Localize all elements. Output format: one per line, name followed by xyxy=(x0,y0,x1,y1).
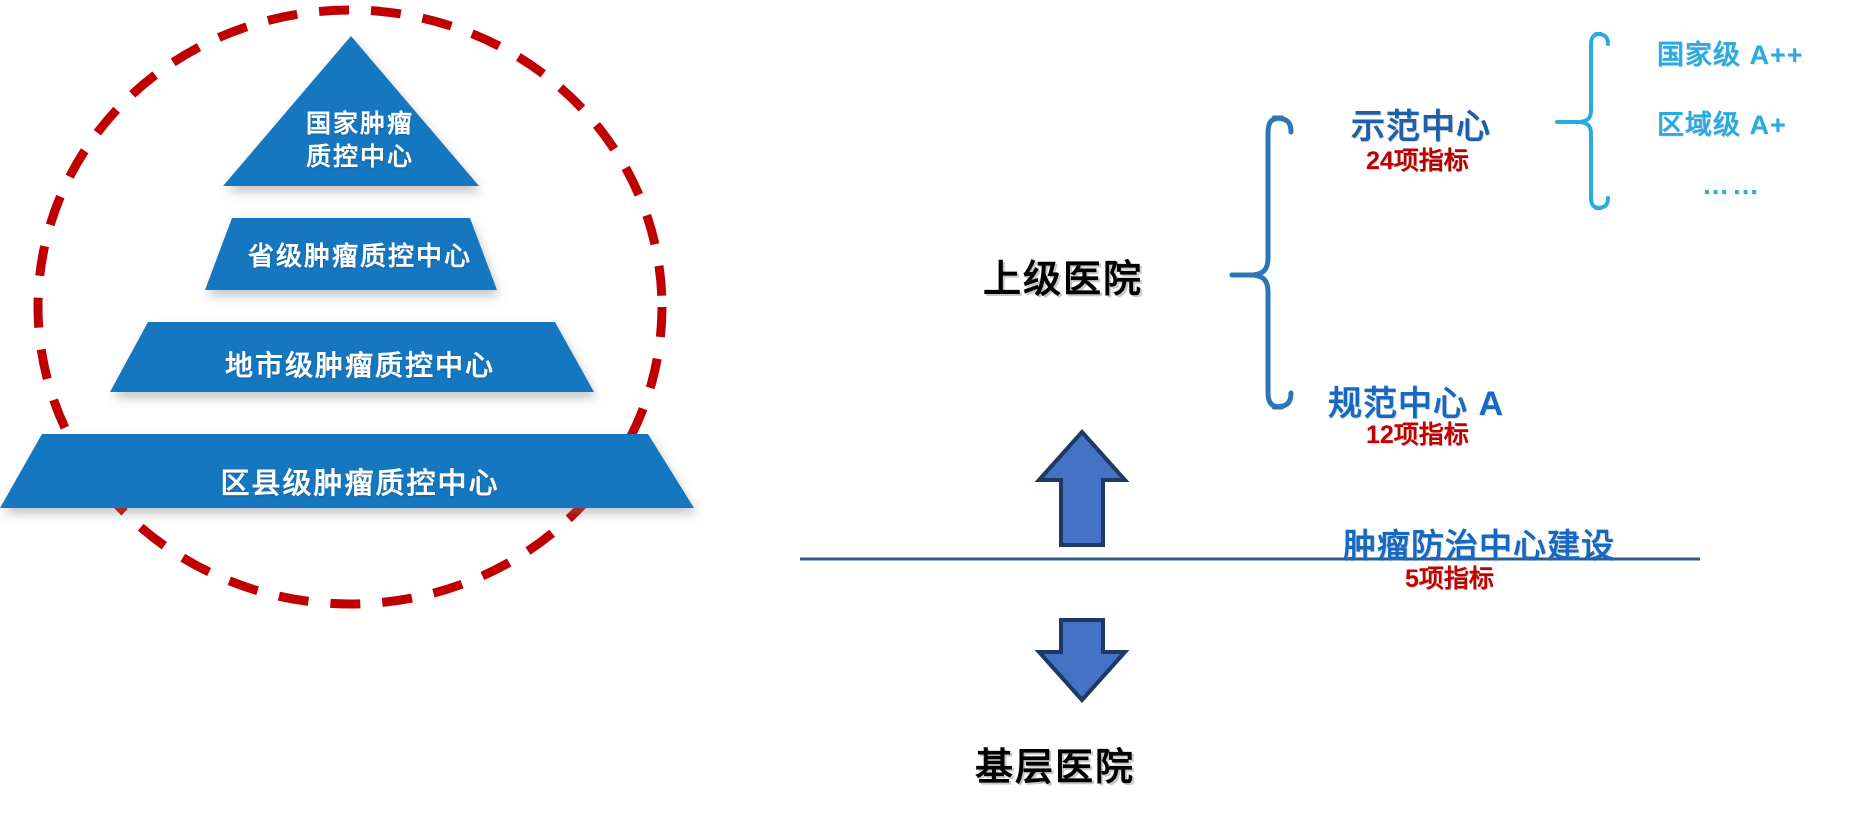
pyramid-tier-4-label: 区县级肿瘤质控中心 xyxy=(120,460,600,502)
prevention-center-indicators: 5项指标 xyxy=(1405,559,1494,595)
pyramid-tier-1-label: 国家肿瘤 质控中心 xyxy=(240,108,480,174)
pyramid-tier-3-label: 地市级肿瘤质控中心 xyxy=(150,344,570,384)
grade-national: 国家级 A++ xyxy=(1657,33,1804,72)
arrow-up-icon xyxy=(1039,432,1125,545)
grade-ellipsis: …… xyxy=(1702,170,1762,201)
grade-regional: 区域级 A+ xyxy=(1657,103,1787,142)
pyramid-tier-1-label-line2: 质控中心 xyxy=(240,141,480,174)
arrow-down-icon xyxy=(1039,620,1125,700)
pyramid-group: 国家肿瘤 质控中心 省级肿瘤质控中心 地市级肿瘤质控中心 区县级肿瘤质控中心 xyxy=(0,0,880,760)
demonstration-center-indicators: 24项指标 xyxy=(1366,141,1469,177)
label-grassroots-hospital: 基层医院 xyxy=(975,736,1135,791)
standard-center-indicators: 12项指标 xyxy=(1366,415,1469,451)
main-brace xyxy=(1232,118,1291,407)
label-upper-hospital: 上级医院 xyxy=(983,248,1143,303)
grades-brace xyxy=(1557,34,1608,208)
diagram-canvas: 国家肿瘤 质控中心 省级肿瘤质控中心 地市级肿瘤质控中心 区县级肿瘤质控中心 xyxy=(0,0,1865,824)
pyramid-tier-2-label: 省级肿瘤质控中心 xyxy=(190,236,530,273)
pyramid-tier-1-label-line1: 国家肿瘤 xyxy=(240,108,480,141)
